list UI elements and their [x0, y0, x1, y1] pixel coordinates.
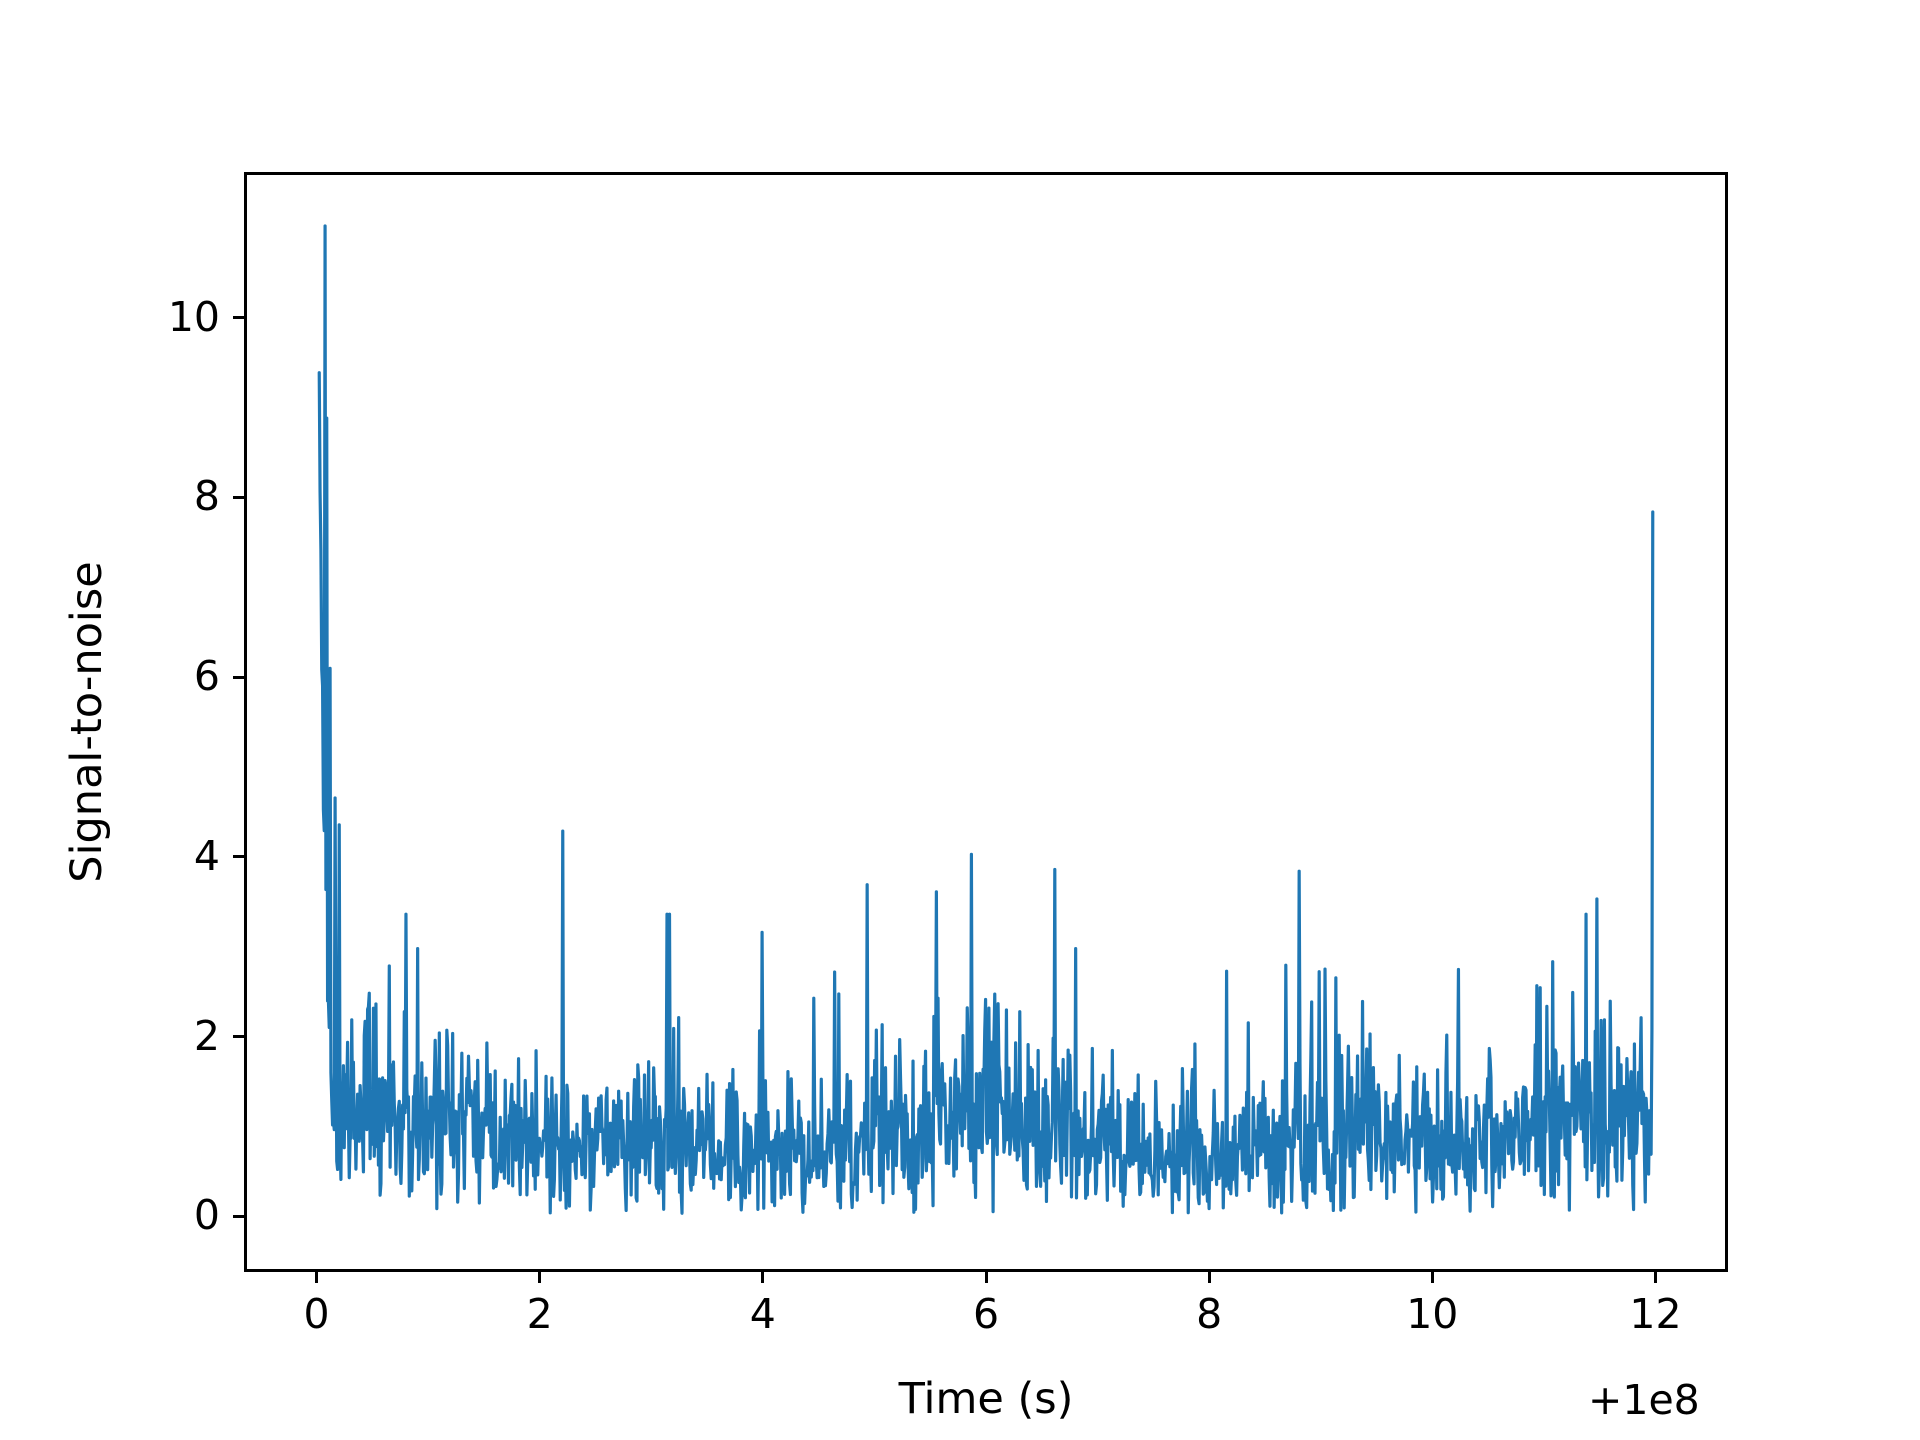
x-tick-mark: [761, 1272, 764, 1283]
x-tick-mark: [538, 1272, 541, 1283]
x-tick-label: 6: [896, 1294, 1076, 1335]
y-axis-label: Signal-to-noise: [62, 561, 112, 882]
y-tick-label: 0: [0, 1195, 220, 1236]
y-tick-label: 2: [0, 1016, 220, 1057]
x-tick-label: 8: [1119, 1294, 1299, 1335]
y-tick-mark: [233, 1035, 244, 1038]
signal-to-noise-line-plot: [247, 175, 1725, 1269]
y-tick-label: 8: [0, 476, 220, 517]
y-tick-mark: [233, 316, 244, 319]
y-tick-label: 10: [0, 297, 220, 338]
y-tick-mark: [233, 855, 244, 858]
x-axis-offset-text: +1e8: [1588, 1376, 1700, 1424]
data-line-signal-to-noise: [319, 226, 1653, 1213]
x-tick-mark: [985, 1272, 988, 1283]
plot-axes: [244, 172, 1728, 1272]
x-tick-label: 10: [1342, 1294, 1522, 1335]
y-tick-mark: [233, 1215, 244, 1218]
x-tick-mark: [1654, 1272, 1657, 1283]
x-tick-label: 2: [450, 1294, 630, 1335]
y-tick-mark: [233, 496, 244, 499]
x-tick-mark: [1208, 1272, 1211, 1283]
x-tick-mark: [315, 1272, 318, 1283]
figure-canvas: 0246810 024681012 Signal-to-noise Time (…: [0, 0, 1920, 1440]
x-tick-label: 0: [227, 1294, 407, 1335]
x-tick-label: 4: [673, 1294, 853, 1335]
y-tick-mark: [233, 676, 244, 679]
x-tick-label: 12: [1565, 1294, 1745, 1335]
x-axis-label: Time (s): [786, 1374, 1186, 1424]
x-tick-mark: [1431, 1272, 1434, 1283]
